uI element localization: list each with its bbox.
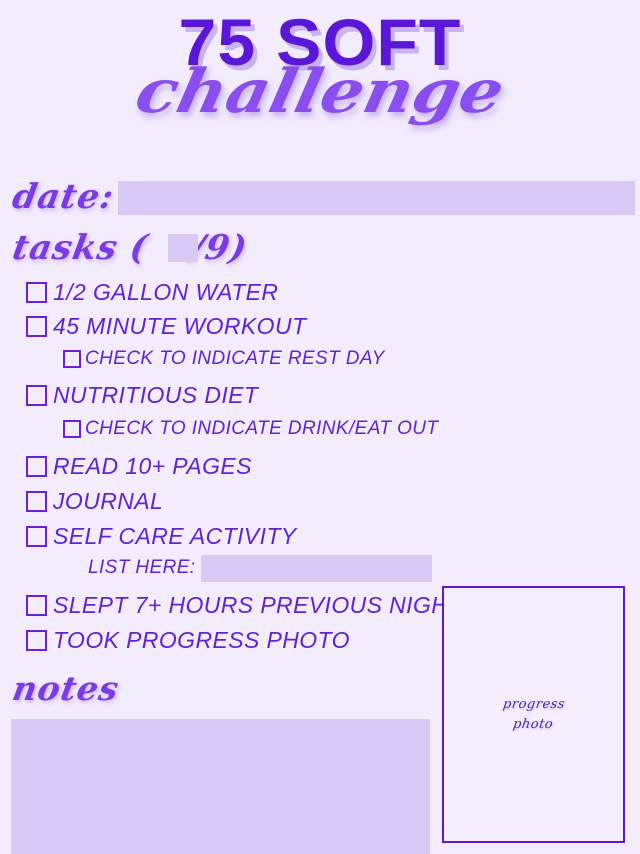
checkbox-icon[interactable] [26, 630, 47, 651]
tasks-row: tasks ( /9) [13, 228, 247, 268]
checkbox-icon[interactable] [26, 491, 47, 512]
checklist-item[interactable]: 45 MINUTE WORKOUT [26, 313, 306, 340]
list-here-input[interactable] [201, 555, 432, 582]
progress-photo-caption-line1: progress [501, 695, 566, 715]
tasks-label-prefix: tasks ( [9, 228, 151, 268]
date-row: date: [13, 176, 114, 218]
checklist-item-label: SLEPT 7+ HOURS PREVIOUS NIGHT [53, 592, 463, 619]
checklist-item-label: 1/2 GALLON WATER [53, 279, 278, 306]
checklist-item[interactable]: TOOK PROGRESS PHOTO [26, 627, 350, 654]
checklist-item-label: NUTRITIOUS DIET [53, 382, 258, 409]
list-here-label: LIST HERE: [88, 557, 195, 579]
checklist-item-label: TOOK PROGRESS PHOTO [53, 627, 350, 654]
date-label: date: [9, 177, 117, 217]
checklist-item-label: 45 MINUTE WORKOUT [53, 313, 306, 340]
checklist-item[interactable]: SELF CARE ACTIVITY [26, 523, 297, 550]
notes-input[interactable] [11, 719, 430, 854]
checklist-item[interactable]: READ 10+ PAGES [26, 453, 252, 480]
checklist-item-label: CHECK TO INDICATE DRINK/EAT OUT [85, 418, 438, 440]
checklist-item-label: JOURNAL [53, 488, 163, 515]
checklist-item[interactable]: SLEPT 7+ HOURS PREVIOUS NIGHT [26, 592, 463, 619]
checklist-item-label: SELF CARE ACTIVITY [53, 523, 297, 550]
checkbox-icon[interactable] [63, 350, 81, 368]
header: 75 SOFT challenge [0, 0, 640, 160]
list-here-row: LIST HERE: [88, 557, 195, 579]
checklist-item[interactable]: 1/2 GALLON WATER [26, 279, 278, 306]
page-title-script: challenge [0, 62, 640, 122]
checkbox-icon[interactable] [26, 385, 47, 406]
checkbox-icon[interactable] [26, 595, 47, 616]
progress-photo-caption-line2: photo [512, 715, 555, 735]
checklist-item[interactable]: JOURNAL [26, 488, 163, 515]
checkbox-icon[interactable] [26, 316, 47, 337]
notes-label: notes [10, 670, 123, 708]
checkbox-icon[interactable] [63, 420, 81, 438]
tasks-count-input[interactable] [168, 234, 198, 262]
checkbox-icon[interactable] [26, 526, 47, 547]
checklist-item[interactable]: CHECK TO INDICATE DRINK/EAT OUT [63, 418, 438, 440]
checklist-item-label: READ 10+ PAGES [53, 453, 252, 480]
checklist-item[interactable]: CHECK TO INDICATE REST DAY [63, 348, 385, 370]
checkbox-icon[interactable] [26, 456, 47, 477]
planner-page: 75 SOFT challenge date: tasks ( /9) 1/2 … [0, 0, 640, 854]
date-input[interactable] [118, 181, 635, 215]
checklist-item[interactable]: NUTRITIOUS DIET [26, 382, 258, 409]
progress-photo-box[interactable]: progress photo [442, 586, 625, 843]
checkbox-icon[interactable] [26, 282, 47, 303]
checklist-item-label: CHECK TO INDICATE REST DAY [85, 348, 385, 370]
